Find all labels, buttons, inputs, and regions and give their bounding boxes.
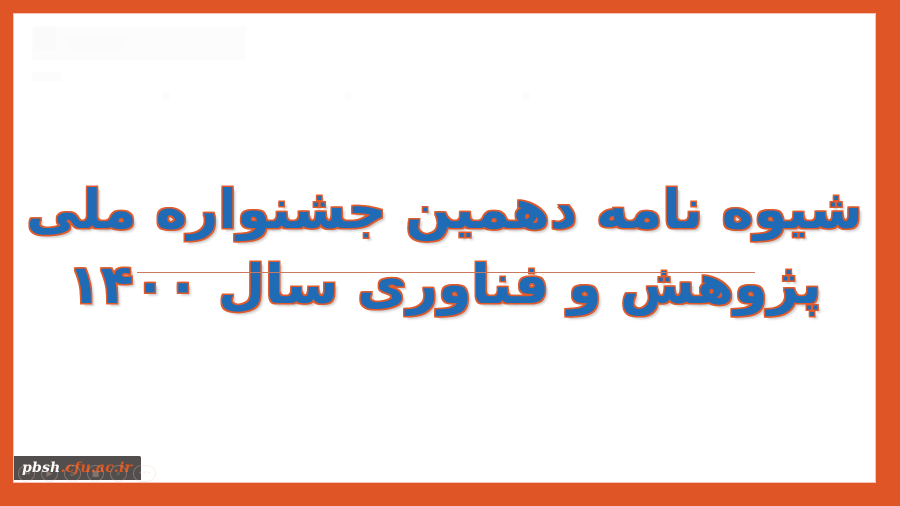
search-icon[interactable]: ⌕	[110, 465, 127, 482]
page-title: شیوه نامه دهمین جشنواره ملی پژوهش و فناو…	[14, 174, 875, 321]
ghost-text-block	[66, 36, 126, 50]
stop-icon[interactable]: ■	[87, 465, 104, 482]
title-divider	[137, 272, 755, 273]
play-icon[interactable]: ▶	[41, 465, 58, 482]
more-icon[interactable]: •••	[133, 465, 156, 482]
mute-icon[interactable]: ⌀	[64, 465, 81, 482]
title-line-2: پژوهش و فناوری سال ۱۴۰۰	[14, 249, 875, 320]
slide-screen: شیوه نامه دهمین جشنواره ملی پژوهش و فناو…	[0, 0, 900, 506]
player-controls[interactable]: ⏮ ▶ ⌀ ■ ⌕ •••	[18, 465, 156, 482]
ghost-header-panel	[32, 26, 246, 60]
skip-back-icon[interactable]: ⏮	[18, 465, 35, 482]
ghost-caption-line	[32, 72, 62, 81]
title-line-1: شیوه نامه دهمین جشنواره ملی	[14, 174, 875, 245]
ghost-logo-block	[34, 28, 56, 50]
ghost-marker-dot	[162, 92, 170, 100]
slide-canvas: شیوه نامه دهمین جشنواره ملی پژوهش و فناو…	[14, 14, 875, 482]
ghost-marker-dot	[344, 92, 352, 100]
ghost-marker-dot	[522, 92, 530, 100]
